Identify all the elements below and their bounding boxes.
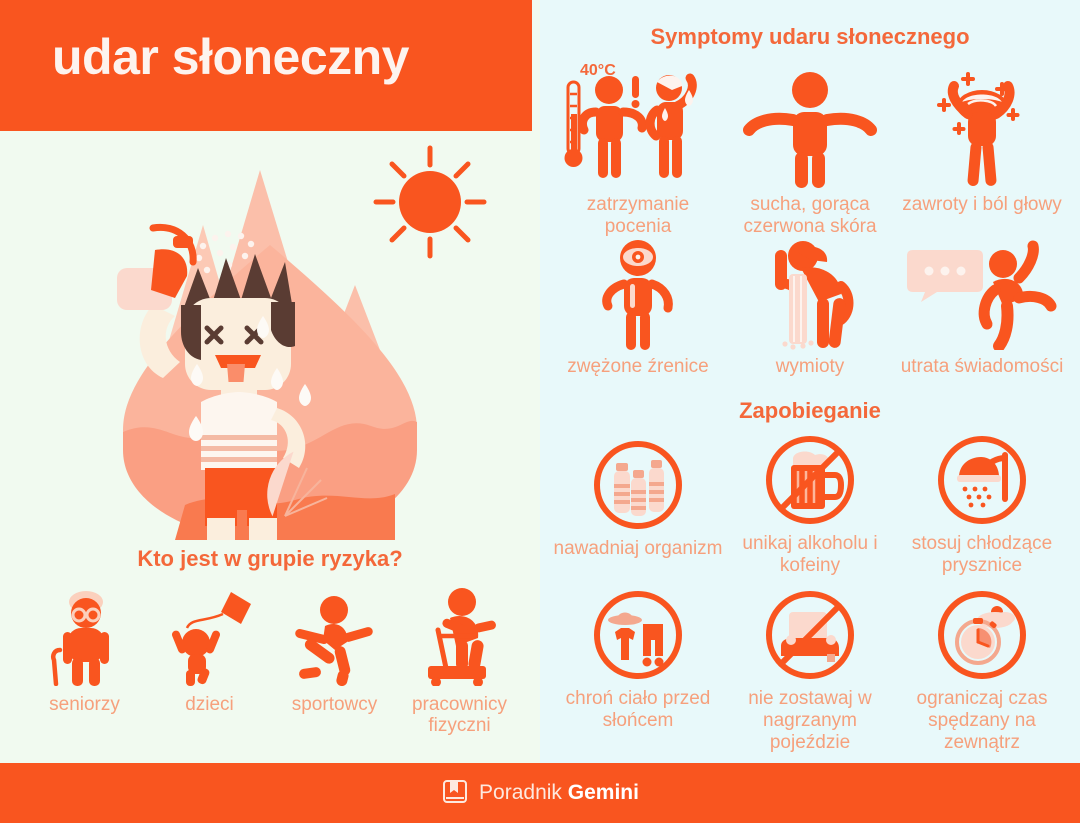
- page-title: udar słoneczny: [52, 28, 409, 86]
- constricted-pupil-icon: [578, 240, 698, 350]
- car-icon: [763, 582, 857, 682]
- symptom-row-1: zatrzymanie pocenia sucha, gorąca czerwo…: [552, 60, 1068, 235]
- risk-item-athletes[interactable]: sportowcy: [272, 588, 397, 758]
- symptom-label: zawroty i ból głowy: [902, 194, 1061, 216]
- shower-head-icon: [935, 432, 1029, 527]
- symptom-label: zwężone źrenice: [567, 356, 709, 378]
- prevention-avoid-alcohol[interactable]: unikaj alkoholu i kofeiny: [724, 432, 896, 577]
- prevention-label: nawadniaj organizm: [554, 538, 723, 560]
- overheated-person-illustration: [55, 150, 485, 540]
- fainting-person-icon: [907, 240, 1057, 350]
- symptom-constricted-pupils[interactable]: zwężone źrenice: [552, 240, 724, 395]
- right-panel: Symptomy udaru słonecznego 40°C: [540, 0, 1080, 763]
- risk-group-row: seniorzy dzieci: [22, 588, 522, 758]
- risk-item-label: sportowcy: [292, 694, 378, 715]
- stopwatch-sun-icon: [935, 582, 1029, 682]
- symptoms-heading: Symptomy udaru słonecznego: [540, 24, 1080, 50]
- beer-mug-icon: [763, 432, 857, 527]
- prevention-label: stosuj chłodzące prysznice: [896, 533, 1068, 577]
- symptom-dizziness-headache[interactable]: zawroty i ból głowy: [896, 60, 1068, 235]
- symptom-loss-of-consciousness[interactable]: utrata świadomości: [896, 240, 1068, 395]
- prevention-row-1: nawadniaj organizm: [552, 432, 1068, 577]
- prevention-label: nie zostawaj w nagrzanym pojeździe: [724, 688, 896, 754]
- symptom-vomiting[interactable]: wymioty: [724, 240, 896, 395]
- symptom-no-sweating[interactable]: zatrzymanie pocenia: [552, 60, 724, 235]
- prevention-hydrate[interactable]: nawadniaj organizm: [552, 432, 724, 577]
- risk-item-label: seniorzy: [49, 694, 120, 715]
- left-panel: udar słoneczny: [0, 0, 540, 763]
- risk-item-seniors[interactable]: seniorzy: [22, 588, 147, 758]
- risk-item-manual-workers[interactable]: pracownicy fizyczni: [397, 588, 522, 758]
- prevention-cool-showers[interactable]: stosuj chłodzące prysznice: [896, 432, 1068, 577]
- water-bottles-icon: [591, 432, 685, 532]
- symptom-dry-hot-red-skin[interactable]: sucha, gorąca czerwona skóra: [724, 60, 896, 235]
- prevention-protect-body[interactable]: chroń ciało przed słońcem: [552, 582, 724, 757]
- thermometer-no-sweat-icon: [556, 60, 721, 188]
- footer-bar: Poradnik Gemini: [0, 763, 1080, 823]
- prevention-limit-outdoor-time[interactable]: ograniczaj czas spędzany na zewnątrz: [896, 582, 1068, 757]
- worker-with-cart-icon: [412, 588, 508, 686]
- sun-clothing-icon: [591, 582, 685, 682]
- symptom-label: utrata świadomości: [901, 356, 1064, 378]
- running-person-icon: [289, 588, 381, 686]
- prevention-label: unikaj alkoholu i kofeiny: [724, 533, 896, 577]
- book-icon: [441, 777, 469, 810]
- prevention-label: chroń ciało przed słońcem: [552, 688, 724, 732]
- prevention-row-2: chroń ciało przed słońcem nie zostawaj w…: [552, 582, 1068, 757]
- infographic-page: udar słoneczny: [0, 0, 1080, 823]
- risk-item-label: pracownicy fizyczni: [397, 694, 522, 737]
- child-with-kite-icon: [165, 588, 255, 686]
- dry-hot-skin-person-icon: [735, 60, 885, 188]
- prevention-no-hot-vehicle[interactable]: nie zostawaj w nagrzanym pojeździe: [724, 582, 896, 757]
- symptom-label: zatrzymanie pocenia: [552, 194, 724, 238]
- symptom-label: sucha, gorąca czerwona skóra: [724, 194, 896, 238]
- prevention-heading: Zapobieganie: [540, 398, 1080, 424]
- footer-brand: Poradnik Gemini: [479, 781, 639, 805]
- senior-person-icon: [46, 588, 124, 686]
- risk-group-heading: Kto jest w grupie ryzyka?: [0, 546, 540, 572]
- dizziness-headache-icon: [912, 60, 1052, 188]
- symptom-label: wymioty: [776, 356, 845, 378]
- footer-brand-prefix: Poradnik: [479, 781, 568, 804]
- risk-item-label: dzieci: [185, 694, 234, 715]
- symptom-row-2: zwężone źrenice: [552, 240, 1068, 395]
- footer-brand-name: Gemini: [568, 781, 639, 804]
- vomiting-person-icon: [745, 240, 875, 350]
- risk-item-children[interactable]: dzieci: [147, 588, 272, 758]
- prevention-label: ograniczaj czas spędzany na zewnątrz: [896, 688, 1068, 754]
